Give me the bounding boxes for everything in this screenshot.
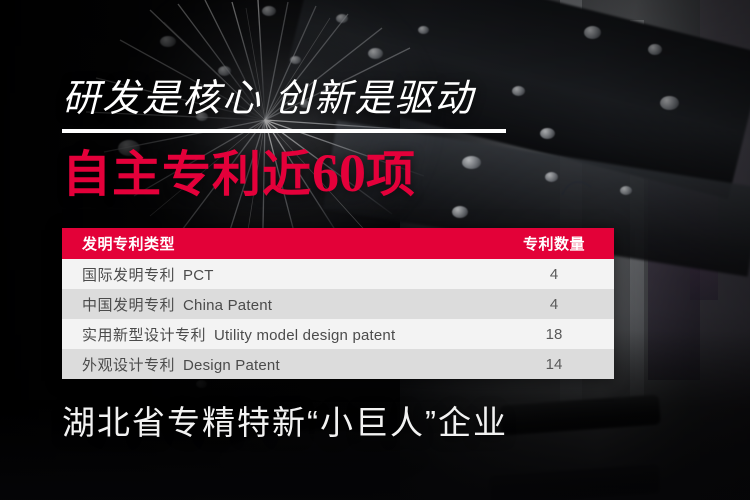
patent-type-cn: 实用新型设计专利 bbox=[82, 327, 206, 344]
patent-table-body: 国际发明专利PCT 4 中国发明专利China Patent 4 实用新型设计专… bbox=[62, 259, 614, 379]
headline-divider bbox=[62, 129, 506, 133]
cell-patent-type: 中国发明专利China Patent bbox=[62, 289, 494, 319]
headline-primary: 研发是核心 创新是驱动 bbox=[62, 76, 475, 122]
table-row: 国际发明专利PCT 4 bbox=[62, 259, 614, 289]
patent-type-en: Design Patent bbox=[183, 357, 280, 374]
cell-patent-type: 实用新型设计专利Utility model design patent bbox=[62, 319, 494, 349]
cell-patent-count: 14 bbox=[494, 349, 614, 379]
cell-patent-count: 18 bbox=[494, 319, 614, 349]
patent-type-cn: 中国发明专利 bbox=[82, 297, 175, 314]
table-row: 中国发明专利China Patent 4 bbox=[62, 289, 614, 319]
headline-secondary-prefix: 自主专利近 bbox=[62, 148, 312, 202]
headline-secondary-number: 60 bbox=[312, 143, 366, 203]
headline-secondary: 自主专利近60项 bbox=[62, 143, 416, 205]
patent-table: 发明专利类型 专利数量 国际发明专利PCT 4 中国发明专利China Pate… bbox=[62, 228, 614, 379]
footer-line: 湖北省专精特新“小巨人”企业 bbox=[62, 401, 508, 445]
table-row: 外观设计专利Design Patent 14 bbox=[62, 349, 614, 379]
banner-content: 研发是核心 创新是驱动 自主专利近60项 发明专利类型 专利数量 国际发明专利P… bbox=[0, 0, 750, 500]
cell-patent-count: 4 bbox=[494, 289, 614, 319]
headline-secondary-suffix: 项 bbox=[366, 148, 416, 202]
patent-type-en: PCT bbox=[183, 267, 214, 284]
promo-banner: 研发是核心 创新是驱动 自主专利近60项 发明专利类型 专利数量 国际发明专利P… bbox=[0, 0, 750, 500]
patent-table-head: 发明专利类型 专利数量 bbox=[62, 228, 614, 259]
table-row: 实用新型设计专利Utility model design patent 18 bbox=[62, 319, 614, 349]
column-header-count: 专利数量 bbox=[494, 228, 614, 259]
cell-patent-count: 4 bbox=[494, 259, 614, 289]
patent-type-cn: 国际发明专利 bbox=[82, 267, 175, 284]
cell-patent-type: 外观设计专利Design Patent bbox=[62, 349, 494, 379]
patent-type-en: Utility model design patent bbox=[214, 327, 395, 344]
patent-type-cn: 外观设计专利 bbox=[82, 357, 175, 374]
cell-patent-type: 国际发明专利PCT bbox=[62, 259, 494, 289]
patent-type-en: China Patent bbox=[183, 297, 272, 314]
column-header-type: 发明专利类型 bbox=[62, 228, 494, 259]
table-header-row: 发明专利类型 专利数量 bbox=[62, 228, 614, 259]
